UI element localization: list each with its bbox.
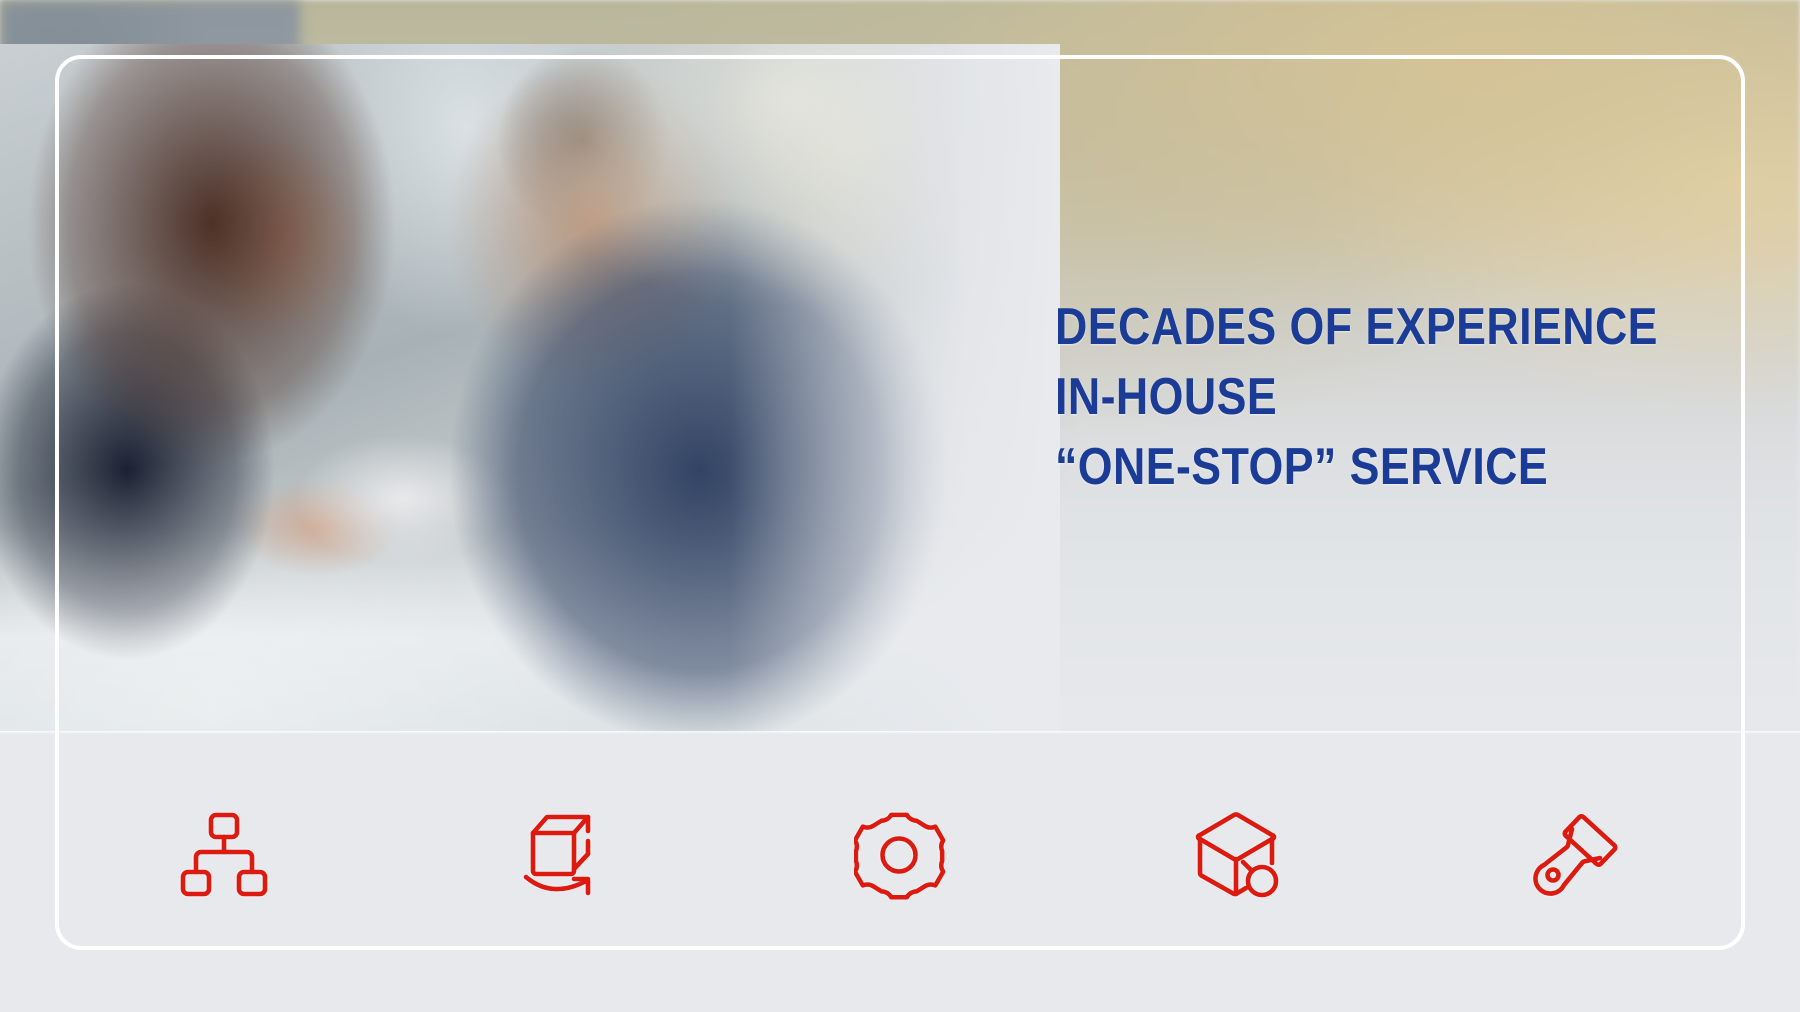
org-chart-icon <box>178 812 270 898</box>
headline-line-3: “ONE-STOP” SERVICE <box>1055 432 1605 502</box>
feature-item-3[interactable] <box>810 780 990 930</box>
feature-item-1[interactable] <box>134 780 314 930</box>
headline: DECADES OF EXPERIENCE IN-HOUSE “ONE-STOP… <box>1055 292 1695 502</box>
headline-line-1: DECADES OF EXPERIENCE <box>1055 292 1605 362</box>
cube-inspect-icon <box>1192 809 1284 901</box>
headline-line-2: IN-HOUSE <box>1055 362 1605 432</box>
feature-icon-row <box>55 760 1745 950</box>
cube-rotate-icon <box>516 809 608 901</box>
hero-photo-fade <box>730 44 1060 734</box>
gear-icon <box>854 809 946 901</box>
feature-item-5[interactable] <box>1486 780 1666 930</box>
hero-photo <box>0 44 1060 734</box>
feature-item-4[interactable] <box>1148 780 1328 930</box>
hero-banner: DECADES OF EXPERIENCE IN-HOUSE “ONE-STOP… <box>0 0 1800 1012</box>
feature-item-2[interactable] <box>472 780 652 930</box>
paint-brush-icon <box>1530 809 1622 901</box>
